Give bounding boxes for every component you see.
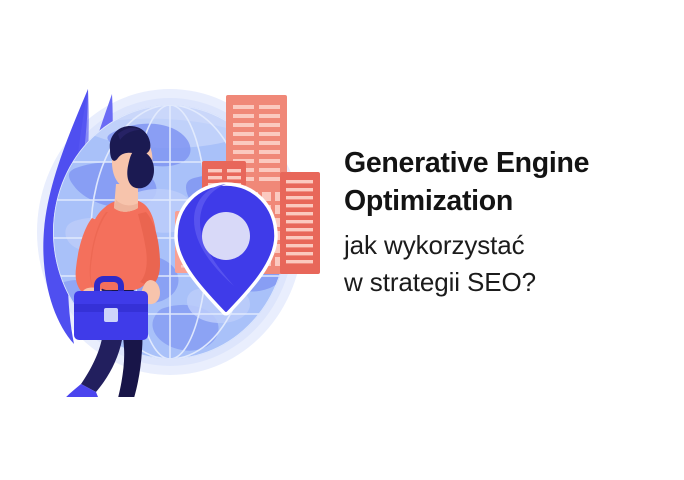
subtitle-line-1: jak wykorzystać: [344, 227, 674, 264]
illustration-svg: [18, 72, 338, 397]
building-right: [280, 172, 320, 274]
banner-root: Generative Engine Optimization jak wykor…: [0, 0, 684, 480]
subtitle-line-2: w strategii SEO?: [344, 264, 674, 301]
headline-line-2: Optimization: [344, 182, 674, 220]
headline-line-1: Generative Engine: [344, 144, 674, 182]
seo-global-business-illustration: [18, 72, 338, 397]
text-block: Generative Engine Optimization jak wykor…: [344, 144, 674, 301]
briefcase-clasp: [104, 308, 118, 322]
